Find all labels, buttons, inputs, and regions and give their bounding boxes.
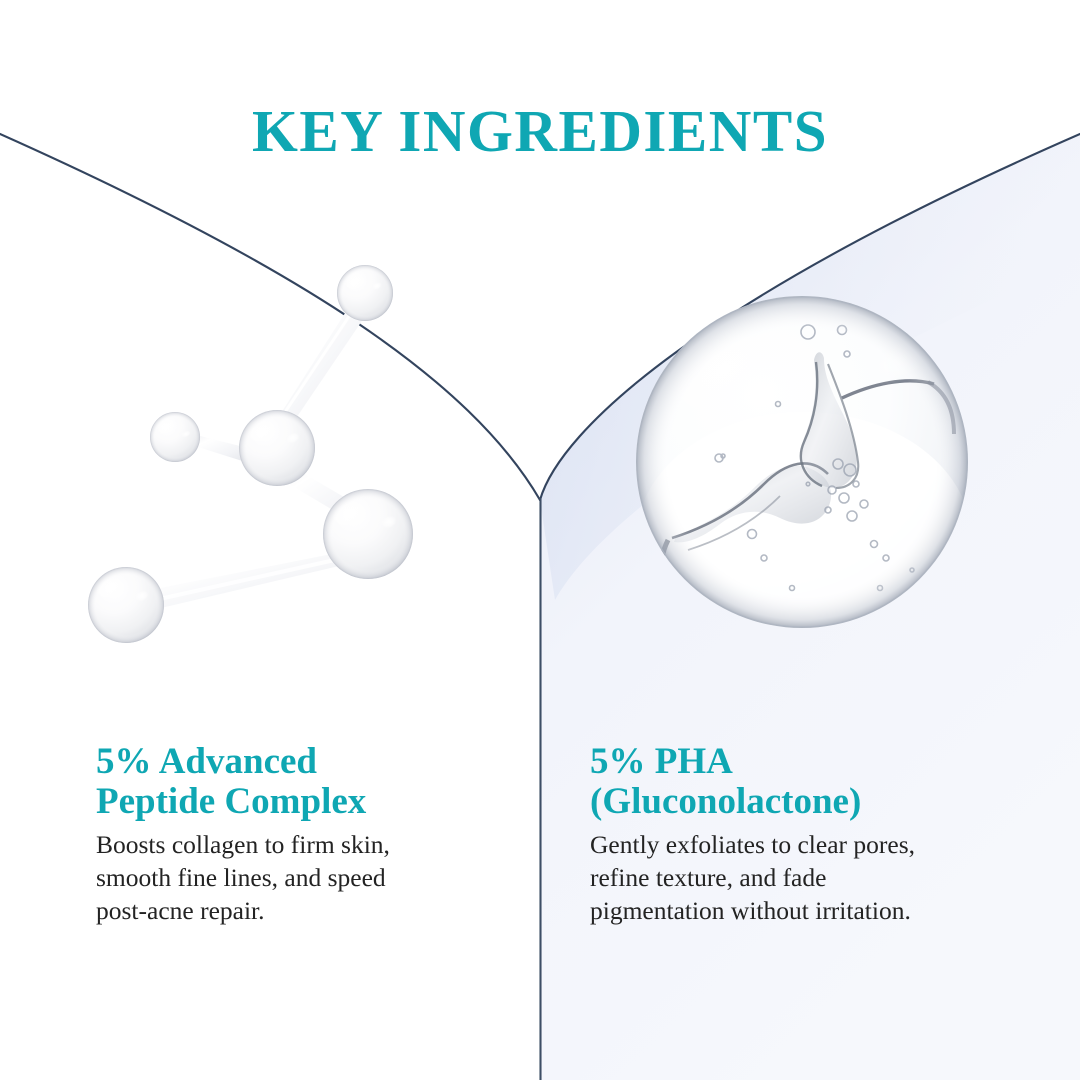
key-ingredients-graphic: KEY INGREDIENTS: [0, 0, 1080, 1080]
atom-left-small: [150, 412, 200, 462]
ingredient-title-right: 5% PHA (Gluconolactone): [590, 742, 1030, 822]
atom-bottom-left: [88, 567, 164, 643]
ingredient-description-left: Boosts collagen to firm skin, smooth fin…: [96, 828, 508, 927]
atom-center: [239, 410, 315, 486]
ingredient-column-left: 5% Advanced Peptide Complex Boosts colla…: [96, 742, 508, 927]
molecule-illustration: [60, 240, 460, 680]
atom-top: [337, 265, 393, 321]
water-droplet-illustration: [628, 288, 976, 636]
ingredient-column-right: 5% PHA (Gluconolactone) Gently exfoliate…: [590, 742, 1030, 927]
atom-large: [323, 489, 413, 579]
ingredient-title-left: 5% Advanced Peptide Complex: [96, 742, 508, 822]
page-title: KEY INGREDIENTS: [0, 102, 1080, 161]
ingredient-description-right: Gently exfoliates to clear pores, refine…: [590, 828, 1030, 927]
